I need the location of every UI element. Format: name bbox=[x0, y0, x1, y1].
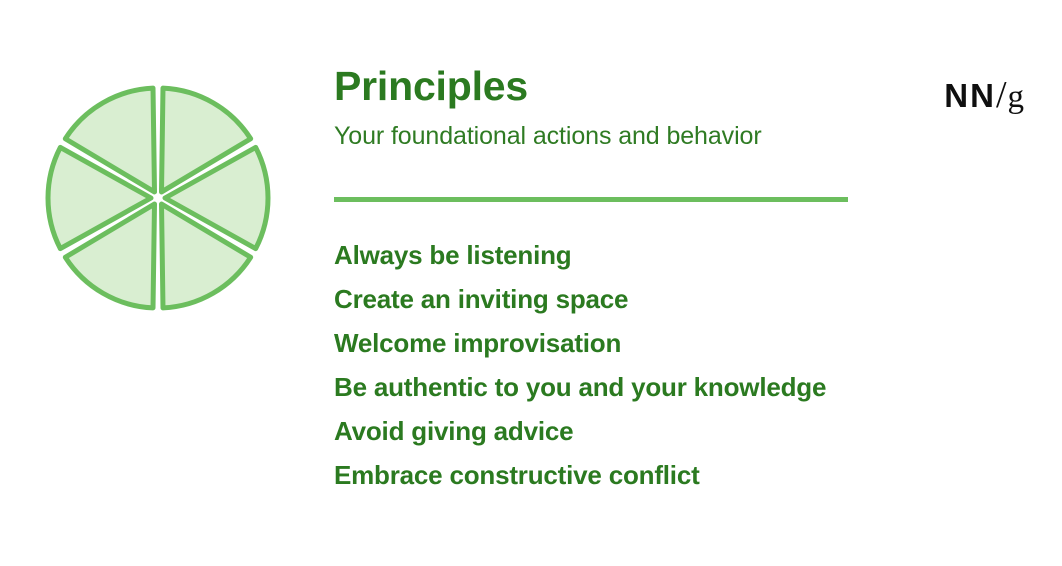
nn-slash-g-logo: NN / g bbox=[944, 76, 1024, 114]
logo-slash-text: / bbox=[996, 76, 1007, 114]
principle-item: Create an inviting space bbox=[334, 277, 826, 321]
slide-canvas: Principles Your foundational actions and… bbox=[0, 0, 1062, 566]
page-title: Principles bbox=[334, 64, 954, 110]
page-subtitle: Your foundational actions and behavior bbox=[334, 121, 954, 151]
principle-item: Embrace constructive conflict bbox=[334, 453, 826, 497]
pie-wheel-svg bbox=[33, 73, 283, 323]
principle-item: Avoid giving advice bbox=[334, 409, 826, 453]
six-segment-pie-wheel-graphic bbox=[33, 73, 283, 323]
principle-item: Always be listening bbox=[334, 233, 826, 277]
text-content-column: Principles Your foundational actions and… bbox=[334, 64, 954, 151]
title-divider-rule bbox=[334, 197, 848, 202]
logo-g-text: g bbox=[1008, 81, 1025, 114]
principles-list: Always be listeningCreate an inviting sp… bbox=[334, 233, 826, 497]
principle-item: Welcome improvisation bbox=[334, 321, 826, 365]
pie-segments-group bbox=[48, 88, 268, 308]
logo-nn-text: NN bbox=[944, 79, 996, 112]
principle-item: Be authentic to you and your knowledge bbox=[334, 365, 826, 409]
